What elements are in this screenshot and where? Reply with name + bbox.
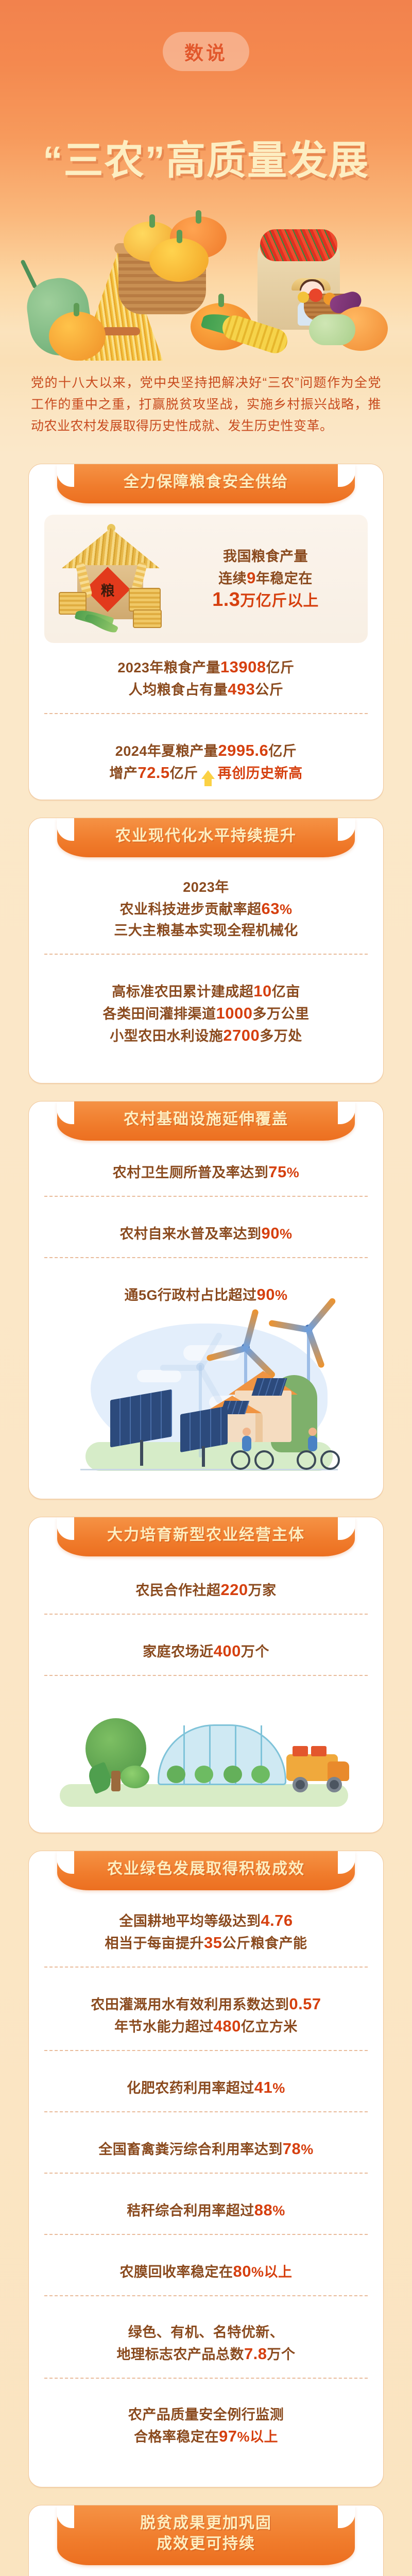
- stat-line: 地理标志农产品总数7.8万个: [49, 2343, 363, 2365]
- intro-section: 党的十八大以来，党中央坚持把解决好“三农”问题作为全党工作的重中之重，打赢脱贫攻…: [0, 361, 412, 454]
- stat-line: 2023年: [49, 877, 363, 898]
- stat-number: 13908: [220, 658, 266, 676]
- stat-text: 全国耕地平均等级达到: [119, 1913, 261, 1929]
- stat-text: 合格率稳定在: [134, 2429, 219, 2445]
- stat-text: 亿斤: [170, 766, 198, 781]
- stat-line: 相当于每亩提升35公斤粮食产能: [49, 1932, 363, 1954]
- stat-text: 秸秆综合利用率超过: [127, 2203, 254, 2218]
- stat-text: %: [272, 2203, 285, 2218]
- stat-text: 年节水能力超过: [114, 2019, 214, 2035]
- stat-text: 亿亩: [272, 984, 300, 999]
- stat-line: 合格率稳定在97%以上: [49, 2426, 363, 2448]
- stat-text: 公斤粮食产能: [222, 1936, 307, 1951]
- stat-group: 2023年粮食产量13908亿斤 人均粮食占有量493公斤: [29, 643, 383, 701]
- divider: [44, 2050, 368, 2051]
- pumpkin-stem-shape: [149, 214, 155, 228]
- harvest-illustration: [0, 216, 412, 361]
- divider: [44, 2295, 368, 2296]
- solar-panel-leg-shape: [140, 1440, 143, 1466]
- section-header-ribbon: 大力培育新型农业经营主体: [57, 1517, 355, 1556]
- stat-text: 农民合作社超: [135, 1583, 220, 1598]
- stat-group: 农膜回收率稳定在80%以上: [29, 2247, 383, 2283]
- truck-wheel-shape: [327, 1777, 342, 1792]
- stat-line: 连续9年稳定在: [175, 567, 356, 589]
- pumpkin-shape: [49, 312, 106, 361]
- yellow-veg-shape: [298, 292, 309, 303]
- green-melon-shape: [309, 314, 355, 345]
- broccoli-shape: [121, 1766, 149, 1788]
- section-header-ribbon: 农村基础设施延伸覆盖: [57, 1101, 355, 1141]
- stat-line: 农产品质量安全例行监测: [49, 2404, 363, 2426]
- divider: [44, 1614, 368, 1615]
- stat-number: 480: [214, 2017, 241, 2035]
- stat-number: 88: [254, 2201, 272, 2219]
- pumpkin-stem-shape: [74, 303, 79, 316]
- stat-text: %: [272, 2080, 285, 2096]
- section-title: 农村基础设施延伸覆盖: [62, 1109, 350, 1130]
- wheat-tie-shape: [102, 327, 140, 335]
- stat-line: 2023年粮食产量13908亿斤: [49, 656, 363, 679]
- intro-paragraph: 党的十八大以来，党中央坚持把解决好“三农”问题作为全党工作的重中之重，打赢脱贫攻…: [31, 372, 381, 437]
- stat-text: 2023年: [183, 879, 229, 895]
- plant-shape: [224, 1766, 242, 1783]
- truck-wheel-shape: [293, 1777, 308, 1792]
- stat-group: 2023年 农业科技进步贡献率超63% 三大主粮基本实现全程机械化: [29, 857, 383, 941]
- stat-line: 增产72.5亿斤再创历史新高: [49, 762, 363, 784]
- stat-number: 97: [219, 2427, 237, 2445]
- stat-text: 万家: [248, 1583, 277, 1598]
- crate-shape: [311, 1746, 327, 1756]
- stat-number: 35: [204, 1934, 222, 1952]
- stat-text: 三大主粮基本实现全程机械化: [114, 923, 298, 938]
- section-card-new-business-entities: 大力培育新型农业经营主体 农民合作社超220万家 家庭农场近400万个: [28, 1517, 384, 1833]
- pumpkin-stem-shape: [218, 294, 224, 307]
- granary-sign-shape: 粮: [85, 567, 130, 612]
- stat-text: 亿立方米: [241, 2019, 298, 2035]
- stat-line: 农膜回收率稳定在80%以上: [49, 2261, 363, 2283]
- divider: [44, 1967, 368, 1968]
- divider: [44, 2111, 368, 2112]
- stat-group: 秸秆综合利用率超过88%: [29, 2186, 383, 2222]
- hero-badge-label: 数说: [184, 43, 228, 64]
- stat-text: 通5G行政村占比超过: [124, 1287, 256, 1303]
- cloud-shape: [137, 1370, 181, 1382]
- divider: [44, 954, 368, 955]
- plant-shape: [195, 1766, 213, 1783]
- stat-number: 2995.6: [218, 741, 268, 759]
- stat-text: 家庭农场近: [143, 1644, 214, 1659]
- section-title: 全力保障粮食安全供给: [62, 472, 350, 493]
- stat-text: %以上: [237, 2429, 278, 2445]
- rider-body-shape: [242, 1436, 251, 1451]
- stat-group: 农产品质量安全例行监测 合格率稳定在97%以上: [29, 2391, 383, 2448]
- section-title: 农业绿色发展取得积极成效: [62, 1859, 350, 1879]
- stat-text: 农业科技进步贡献率超: [120, 902, 262, 917]
- section-title: 脱贫成果更加巩固 成效更可持续: [62, 2513, 350, 2554]
- bicycle-wheel-shape: [254, 1450, 274, 1470]
- stat-number: 90: [257, 1285, 275, 1303]
- crate-shape: [293, 1746, 308, 1756]
- stat-line: 农村自来水普及率达到90%: [49, 1223, 363, 1245]
- wind-turbine-blade: [160, 1365, 200, 1371]
- stat-text: 再创历史新高: [218, 766, 303, 781]
- stat-number: 2700: [223, 1026, 260, 1044]
- stat-group: 全国畜禽粪污综合利用率达到78%: [29, 2125, 383, 2160]
- stat-text: 万亿斤以上: [240, 592, 319, 609]
- tree-trunk-shape: [111, 1771, 121, 1791]
- stat-number: 90: [262, 1224, 280, 1242]
- stat-number: 80: [233, 2262, 251, 2280]
- stat-text: %: [280, 902, 293, 917]
- stat-line: 三大主粮基本实现全程机械化: [49, 920, 363, 941]
- stat-text: 我国粮食产量: [223, 549, 308, 564]
- stat-line: 家庭农场近400万个: [49, 1640, 363, 1663]
- stat-number: 493: [228, 680, 255, 698]
- stat-line: 各类田间灌排渠道1000多万公里: [49, 1003, 363, 1025]
- stat-text: %: [275, 1287, 288, 1303]
- stat-text: 农田灌溉用水有效利用系数达到: [91, 1997, 289, 2012]
- stat-number: 400: [214, 1642, 241, 1660]
- stat-text: 年稳定在: [256, 571, 313, 586]
- divider: [44, 1675, 368, 1676]
- stat-number: 1.3: [212, 589, 240, 611]
- stat-number: 9: [247, 569, 256, 587]
- stat-line: 化肥农药利用率超过41%: [49, 2077, 363, 2099]
- stat-line: 1.3万亿斤以上: [175, 589, 356, 612]
- sections-container: 全力保障粮食安全供给 粮: [0, 454, 412, 2576]
- section-card-rural-infrastructure: 农村基础设施延伸覆盖 农村卫生厕所普及率达到75% 农村自来水普及率达到90% …: [28, 1101, 384, 1499]
- stat-group: 家庭农场近400万个: [29, 1627, 383, 1663]
- rider-head-shape: [243, 1428, 251, 1436]
- stat-number: 4.76: [261, 1911, 293, 1929]
- stat-text: 化肥农药利用率超过: [127, 2080, 254, 2096]
- hero-badge: 数说: [163, 32, 249, 71]
- tomato-shape: [309, 289, 322, 302]
- plant-shape: [167, 1766, 185, 1783]
- infographic-poster: 数说 “三农”高质量发展: [0, 0, 412, 2576]
- stat-text: 小型农田水利设施: [110, 1028, 223, 1044]
- highlight-panel: 粮 我国粮食产量 连续9年稳定在: [44, 515, 368, 643]
- stat-text: 地理标志农产品总数: [116, 2347, 244, 2362]
- divider: [44, 1257, 368, 1258]
- divider: [44, 2173, 368, 2174]
- stat-number: 78: [283, 2140, 301, 2158]
- stat-text: 农产品质量安全例行监测: [128, 2407, 284, 2422]
- stat-line: 农民合作社超220万家: [49, 1579, 363, 1601]
- stat-group: 绿色、有机、名特优新、 地理标志农产品总数7.8万个: [29, 2309, 383, 2365]
- divider: [44, 2378, 368, 2379]
- stat-number: 7.8: [244, 2345, 267, 2363]
- stat-number: 63: [262, 900, 280, 918]
- stat-text: 高标准农田累计建成超: [112, 984, 253, 999]
- stat-number: 1000: [216, 1004, 253, 1022]
- stat-group: 农田灌溉用水有效利用系数达到0.57 年节水能力超过480亿立方米: [29, 1980, 383, 2038]
- stat-text: 亿斤: [268, 743, 297, 759]
- chili-peppers-shape: [260, 229, 337, 261]
- stat-text: 绿色、有机、名特优新、: [128, 2325, 284, 2340]
- roof-solar-panel-shape: [251, 1378, 287, 1396]
- stat-line: 农田灌溉用水有效利用系数达到0.57: [49, 1993, 363, 2015]
- stat-text: 农村自来水普及率达到: [120, 1226, 262, 1242]
- hay-bale-shape: [133, 609, 162, 628]
- granary-roof-shape: [62, 528, 160, 568]
- stat-text: 2024年夏粮产量: [115, 743, 218, 759]
- up-arrow-icon: [201, 770, 215, 779]
- section-card-green-development: 农业绿色发展取得积极成效 全国耕地平均等级达到4.76 相当于每亩提升35公斤粮…: [28, 1851, 384, 2487]
- section-header-ribbon: 农业现代化水平持续提升: [57, 818, 355, 857]
- stat-line: 全国耕地平均等级达到4.76: [49, 1910, 363, 1932]
- highlight-text: 我国粮食产量 连续9年稳定在 1.3万亿斤以上: [175, 546, 356, 612]
- stat-text: %: [301, 2142, 314, 2157]
- stat-text: 2023年粮食产量: [117, 660, 220, 675]
- bicycle-wheel-shape: [231, 1450, 250, 1470]
- stat-line: 人均粮食占有量493公斤: [49, 679, 363, 701]
- stat-text: 增产: [109, 766, 138, 781]
- divider: [44, 2234, 368, 2235]
- hero-banner: 数说 “三农”高质量发展: [0, 0, 412, 361]
- stat-line: 年节水能力超过480亿立方米: [49, 2015, 363, 2038]
- stat-number: 41: [254, 2078, 272, 2096]
- stat-text: 万个: [241, 1644, 269, 1659]
- stat-text: 相当于每亩提升: [105, 1936, 204, 1951]
- pumpkin-stem-shape: [177, 230, 182, 243]
- divider: [44, 713, 368, 714]
- pumpkin-shape: [149, 238, 209, 282]
- hay-bale-shape: [129, 588, 161, 612]
- stat-text: 农膜回收率稳定在: [120, 2264, 233, 2280]
- stat-text: 公斤: [255, 682, 283, 698]
- stat-text: 全国畜禽粪污综合利用率达到: [98, 2142, 283, 2157]
- stat-group: 高标准农田累计建成超10亿亩 各类田间灌排渠道1000多万公里 小型农田水利设施…: [29, 967, 383, 1047]
- stat-text: 万个: [267, 2347, 296, 2362]
- renewable-village-illustration: [29, 1313, 383, 1483]
- solar-panel-leg-shape: [202, 1446, 205, 1467]
- granary-icon: 粮: [56, 526, 166, 632]
- stat-line: 全国畜禽粪污综合利用率达到78%: [49, 2138, 363, 2160]
- stat-line: 我国粮食产量: [175, 546, 356, 567]
- stat-group: 全国耕地平均等级达到4.76 相当于每亩提升35公斤粮食产能: [29, 1890, 383, 1954]
- bicycle-wheel-shape: [320, 1450, 340, 1470]
- stat-number: 10: [253, 982, 271, 1000]
- rider-head-shape: [308, 1428, 317, 1436]
- page-title: “三农”高质量发展: [0, 129, 412, 186]
- plant-shape: [251, 1766, 270, 1783]
- stat-line: 农业科技进步贡献率超63%: [49, 898, 363, 920]
- granary-sign-label: 粮: [92, 573, 124, 605]
- stat-text: 多万公里: [252, 1006, 309, 1022]
- stat-text: 多万处: [260, 1028, 302, 1044]
- ground-line-shape: [80, 1469, 338, 1470]
- section-header-ribbon: 全力保障粮食安全供给: [57, 464, 355, 503]
- stat-line: 绿色、有机、名特优新、: [49, 2322, 363, 2343]
- stat-group: 2024年夏粮产量2995.6亿斤 增产72.5亿斤再创历史新高: [29, 726, 383, 784]
- stat-line: 高标准农田累计建成超10亿亩: [49, 980, 363, 1003]
- stat-text: 连续: [218, 571, 247, 586]
- section-card-food-security: 全力保障粮食安全供给 粮: [28, 464, 384, 800]
- stat-group: 化肥农药利用率超过41%: [29, 2063, 383, 2099]
- section-header-ribbon: 农业绿色发展取得积极成效: [57, 1851, 355, 1890]
- section-card-modernization: 农业现代化水平持续提升 2023年 农业科技进步贡献率超63% 三大主粮基本实现…: [28, 818, 384, 1083]
- stat-text: %: [287, 1165, 300, 1180]
- stat-number: 0.57: [289, 1995, 321, 2013]
- rider-body-shape: [308, 1436, 317, 1451]
- stat-line: 小型农田水利设施2700多万处: [49, 1025, 363, 1047]
- stat-line: 秸秆综合利用率超过88%: [49, 2199, 363, 2222]
- section-header-ribbon: 脱贫成果更加巩固 成效更可持续: [57, 2505, 355, 2565]
- section-title: 大力培育新型农业经营主体: [62, 1525, 350, 1546]
- section-title-line1: 脱贫成果更加巩固: [62, 2513, 350, 2534]
- stat-group: 农村卫生厕所普及率达到75%: [29, 1141, 383, 1183]
- stat-text: 农村卫生厕所普及率达到: [113, 1165, 269, 1180]
- wind-turbine-blade: [268, 1320, 309, 1333]
- stat-text: 各类田间灌排渠道: [103, 1006, 216, 1022]
- section-card-poverty-alleviation: 脱贫成果更加巩固 成效更可持续 聚焦 160个国家乡村振兴重点帮扶县 3.5万个…: [28, 2505, 384, 2576]
- stat-line: 农村卫生厕所普及率达到75%: [49, 1161, 363, 1183]
- stat-text: %以上: [251, 2264, 293, 2280]
- stat-number: 220: [220, 1581, 248, 1599]
- stat-line: 2024年夏粮产量2995.6亿斤: [49, 740, 363, 762]
- stat-line: 通5G行政村占比超过90%: [49, 1284, 363, 1306]
- section-title-line2: 成效更可持续: [62, 2534, 350, 2554]
- gourd-stem-shape: [20, 259, 37, 289]
- stat-text: %: [280, 1226, 293, 1242]
- stat-number: 75: [268, 1163, 286, 1181]
- stat-group: 农民合作社超220万家: [29, 1556, 383, 1601]
- pumpkin-stem-shape: [196, 210, 201, 224]
- stat-number: 72.5: [138, 764, 169, 782]
- greenhouse-farm-illustration: [29, 1688, 383, 1817]
- stat-text: 人均粮食占有量: [129, 682, 228, 698]
- stat-group: 农村自来水普及率达到90%: [29, 1209, 383, 1245]
- divider: [44, 1196, 368, 1197]
- bicycle-wheel-shape: [297, 1450, 316, 1470]
- section-title: 农业现代化水平持续提升: [62, 826, 350, 846]
- stat-text: 亿斤: [266, 660, 295, 675]
